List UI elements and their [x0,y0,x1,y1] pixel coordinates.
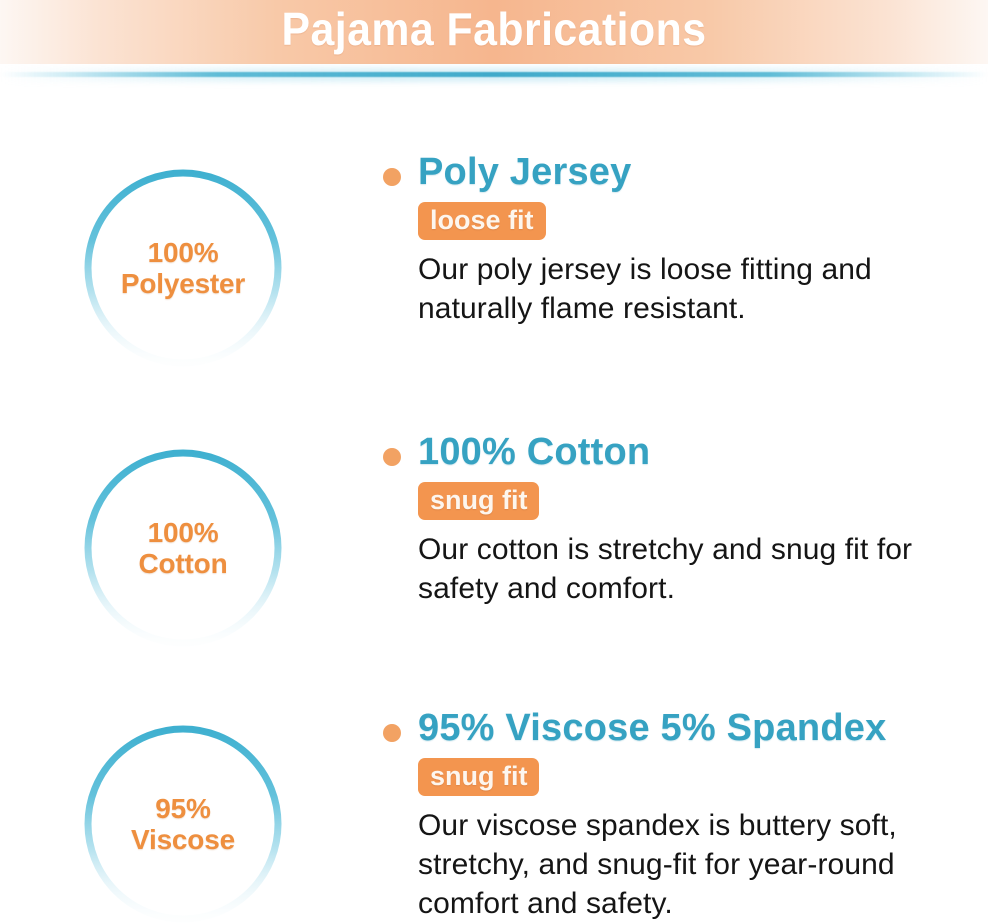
fabrication-description: Our viscose spandex is buttery soft, str… [418,806,978,923]
fit-badge: snug fit [418,758,539,796]
circle-badge-text: 95% Viscose [83,724,283,924]
fabrication-heading: 95% Viscose 5% Spandex [418,706,886,750]
fabrication-description: Our cotton is stretchy and snug fit for … [418,530,978,608]
fabrication-row: 100% Cotton 100% Cotton snug fit Our cot… [0,420,988,670]
fabrication-content: 95% Viscose 5% Spandex snug fit Our visc… [380,706,980,752]
circle-badge-text: 100% Polyester [83,168,283,368]
fit-badge: loose fit [418,202,546,240]
fabrication-heading: Poly Jersey [418,150,631,194]
fabrication-heading: 100% Cotton [418,430,650,474]
fabrication-content: Poly Jersey loose fit Our poly jersey is… [380,150,980,196]
fabrication-row: 100% Polyester Poly Jersey loose fit Our… [0,140,988,390]
fit-badge: snug fit [418,482,539,520]
circle-badge-line1: 95% [155,793,210,824]
circle-badge-line1: 100% [148,237,219,268]
circle-badge-line2: Cotton [139,548,228,579]
bullet-dot-icon [383,724,401,742]
circle-badge-text: 100% Cotton [83,448,283,648]
bullet-dot-icon [383,168,401,186]
bullet-dot-icon [383,448,401,466]
fabrication-content: 100% Cotton snug fit Our cotton is stret… [380,430,980,476]
circle-badge-line1: 100% [148,517,219,548]
header-divider-rule [0,72,988,77]
header-banner: Pajama Fabrications [0,0,988,64]
heading-row: 95% Viscose 5% Spandex [380,706,980,752]
fabrication-row: 95% Viscose 95% Viscose 5% Spandex snug … [0,696,988,924]
page-title: Pajama Fabrications [35,2,954,56]
fabric-circle-badge: 100% Cotton [83,448,283,648]
fabric-circle-badge: 100% Polyester [83,168,283,368]
fabric-circle-badge: 95% Viscose [83,724,283,924]
heading-row: Poly Jersey [380,150,980,196]
fabrication-description: Our poly jersey is loose fitting and nat… [418,250,978,328]
circle-badge-line2: Viscose [131,824,235,855]
circle-badge-line2: Polyester [121,268,245,299]
heading-row: 100% Cotton [380,430,980,476]
